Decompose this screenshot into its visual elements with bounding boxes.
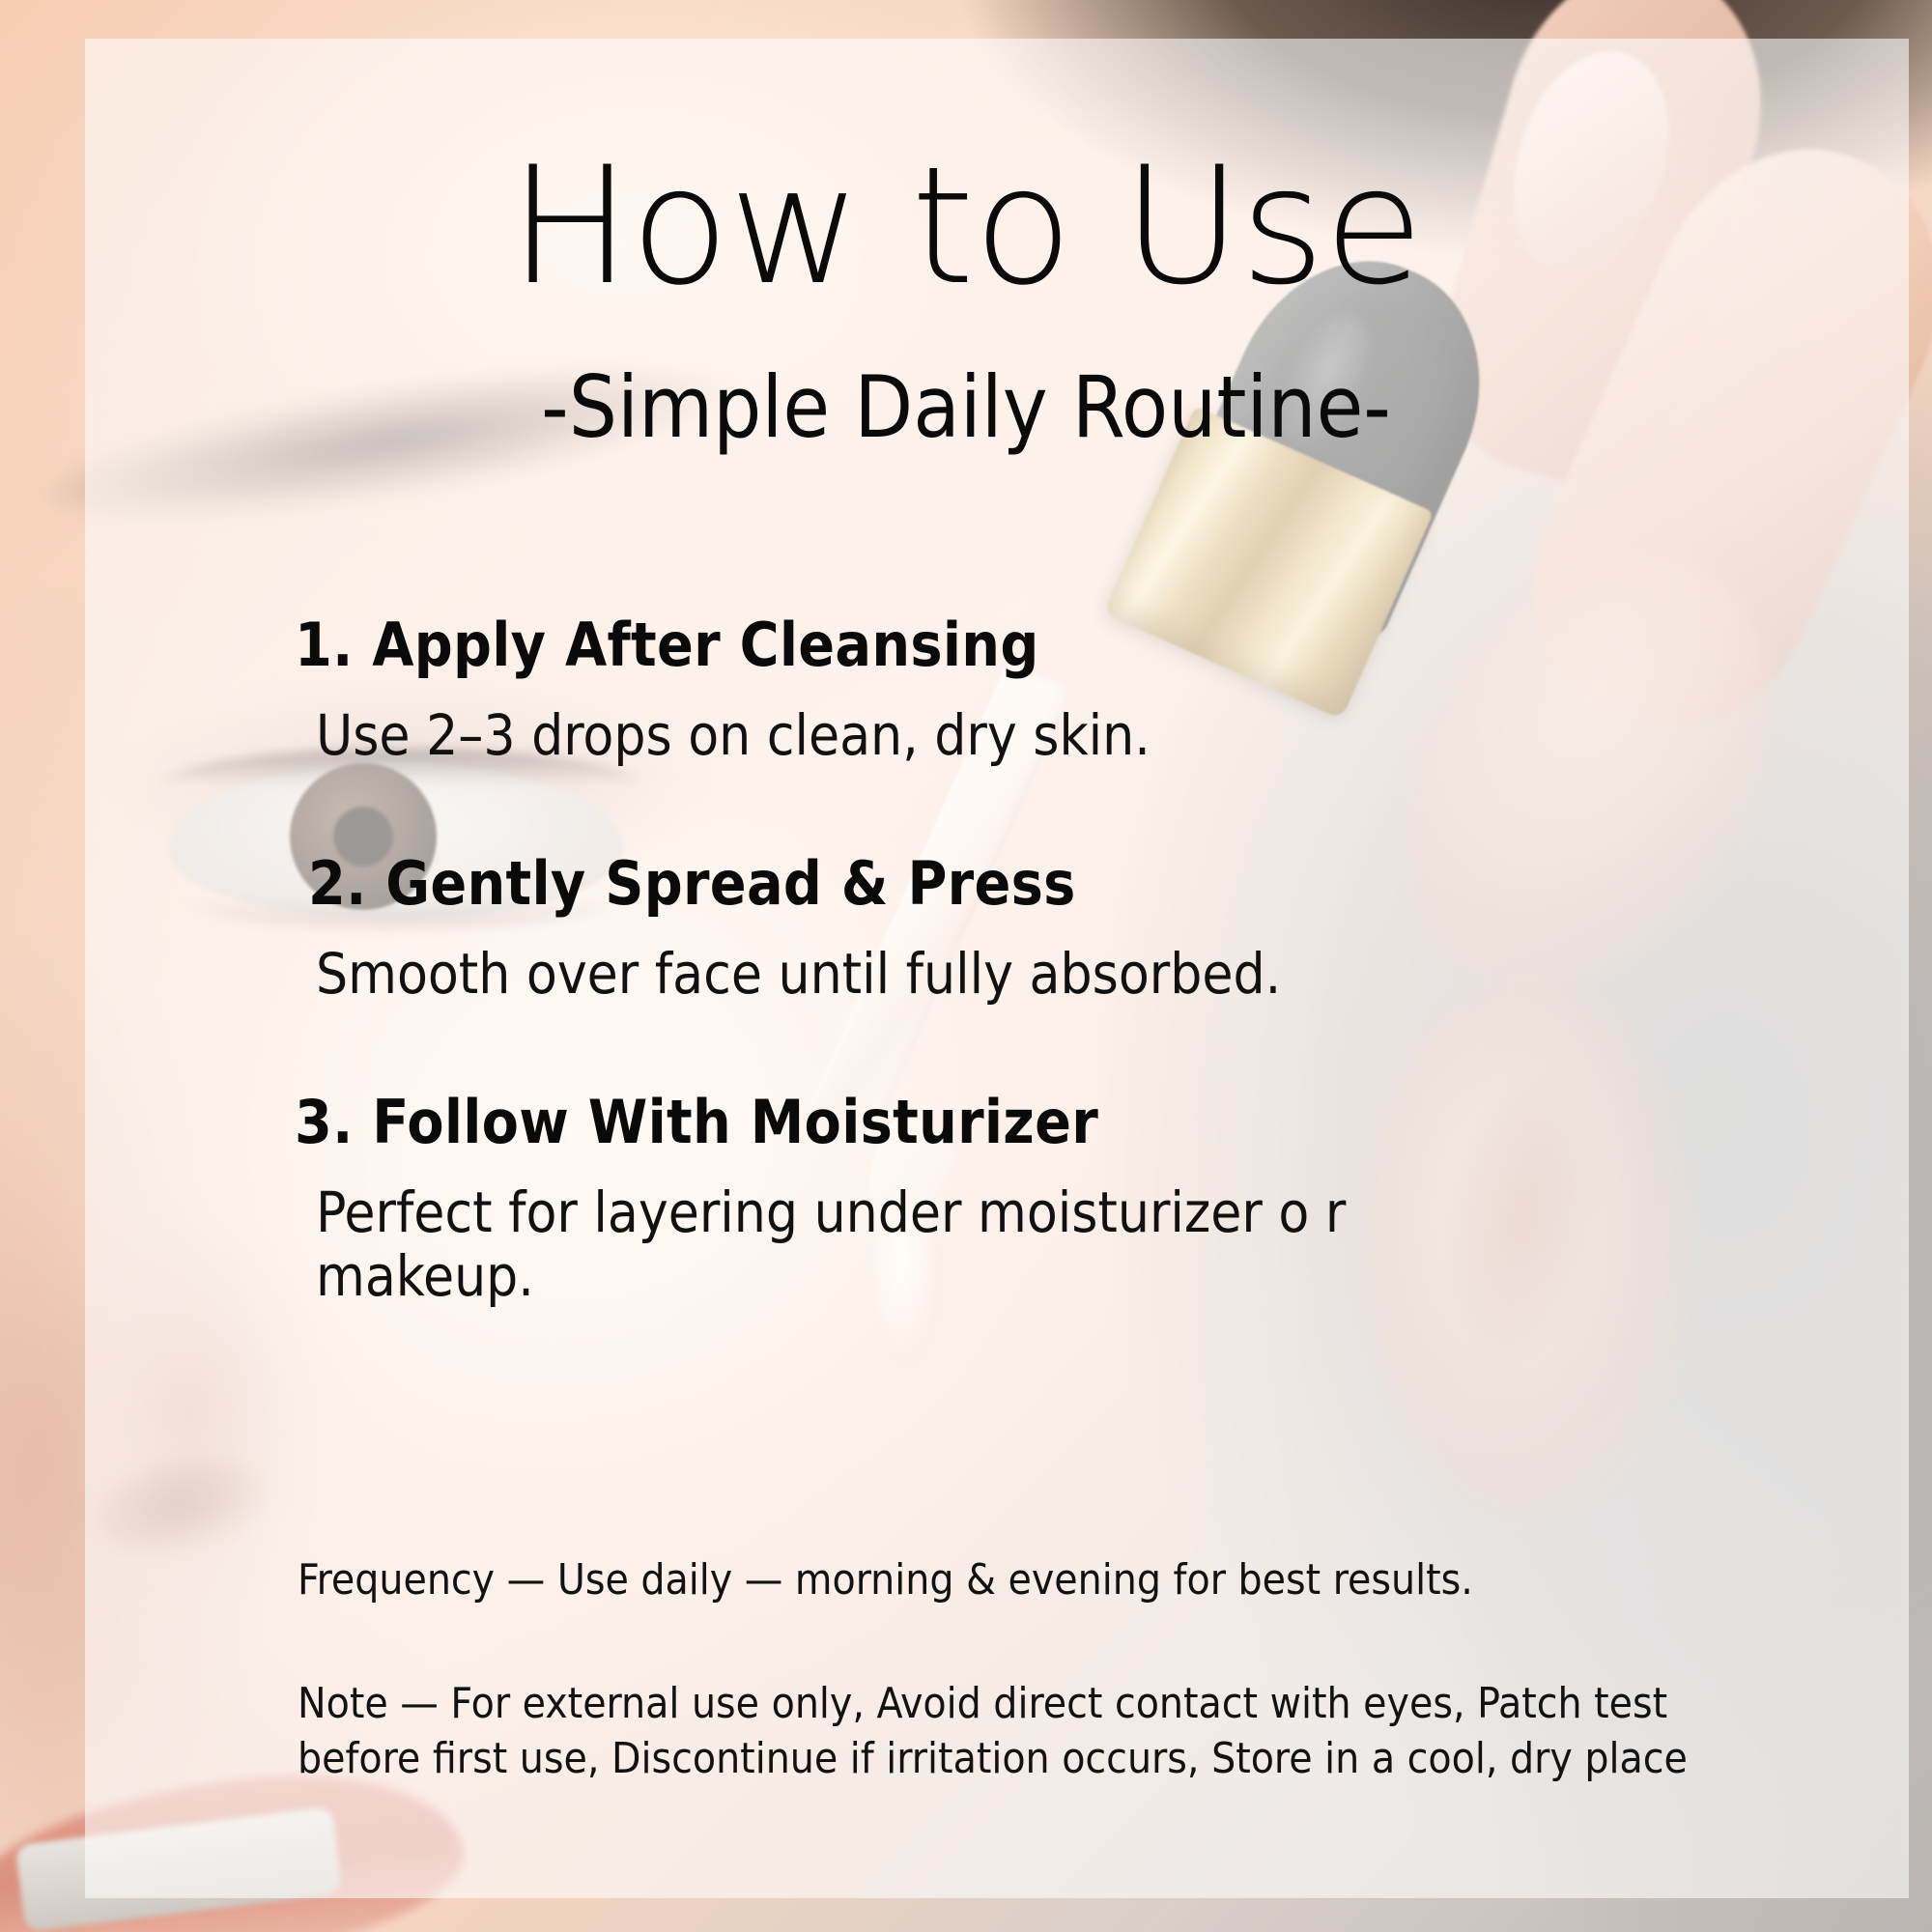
frequency-note: Frequency — Use daily — morning & evenin… — [298, 1555, 1766, 1606]
step-3-description: Perfect for layering under moisturizer o… — [295, 1180, 1552, 1308]
step-1-title: 1. Apply After Cleansing — [295, 613, 1744, 678]
page-title: How to Use — [0, 145, 1932, 307]
poster-canvas: How to Use -Simple Daily Routine- 1. App… — [0, 0, 1932, 1932]
step-1-description: Use 2–3 drops on clean, dry skin. — [295, 703, 1552, 767]
step-2-description: Smooth over face until fully absorbed. — [295, 942, 1552, 1006]
step-3-title: 3. Follow With Moisturizer — [295, 1091, 1744, 1155]
poster-content: How to Use -Simple Daily Routine- 1. App… — [0, 0, 1932, 1932]
page-subtitle: -Simple Daily Routine- — [0, 365, 1932, 450]
list-item: 2. Gently Spread & Press Smooth over fac… — [295, 852, 1744, 1006]
step-2-title: 2. Gently Spread & Press — [295, 852, 1744, 917]
list-item: 1. Apply After Cleansing Use 2–3 drops o… — [295, 613, 1744, 767]
safety-note: Note — For external use only, Avoid dire… — [298, 1676, 1790, 1786]
list-item: 3. Follow With Moisturizer Perfect for l… — [295, 1091, 1744, 1308]
steps-list: 1. Apply After Cleansing Use 2–3 drops o… — [295, 613, 1744, 1308]
